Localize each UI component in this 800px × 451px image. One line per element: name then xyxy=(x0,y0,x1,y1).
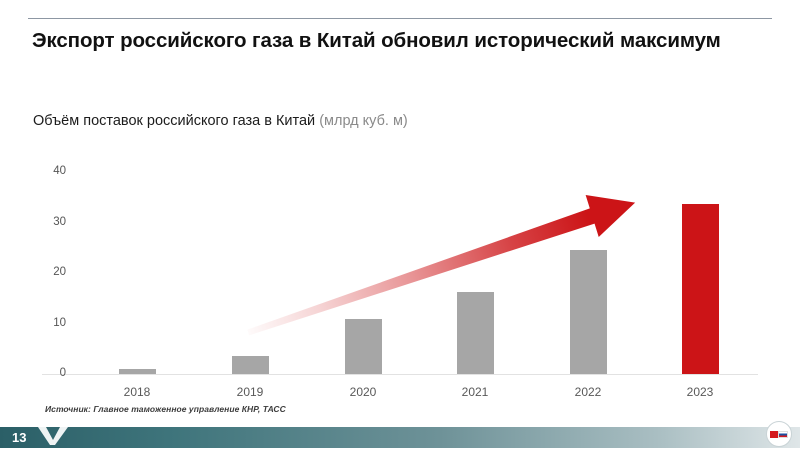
slide-root: Экспорт российского газа в Китай обновил… xyxy=(0,0,800,451)
russia-flag-icon xyxy=(778,431,788,438)
bar-chart: 010203040 201820192020202120222023 xyxy=(0,0,800,451)
page-number: 13 xyxy=(12,430,26,445)
y-axis-tick-label: 10 xyxy=(26,318,66,330)
bar-2022 xyxy=(570,250,607,374)
bar-2018 xyxy=(119,369,156,374)
y-axis-tick-label: 40 xyxy=(26,166,66,178)
x-axis-line xyxy=(42,374,758,375)
x-axis-tick-label: 2022 xyxy=(548,385,628,399)
x-axis-tick-label: 2021 xyxy=(435,385,515,399)
bar-2020 xyxy=(345,319,382,374)
china-russia-flags-logo xyxy=(766,421,792,447)
bar-2023 xyxy=(682,204,719,374)
y-axis-tick-label: 20 xyxy=(26,267,66,279)
x-axis-tick-label: 2018 xyxy=(97,385,177,399)
chevron-mark-icon xyxy=(36,427,70,445)
bar-2019 xyxy=(232,356,269,374)
x-axis-tick-label: 2020 xyxy=(323,385,403,399)
bar-2021 xyxy=(457,292,494,374)
x-axis-tick-label: 2019 xyxy=(210,385,290,399)
y-axis-tick-label: 30 xyxy=(26,217,66,229)
y-axis-tick-label: 0 xyxy=(26,368,66,380)
growth-trend-arrow xyxy=(0,0,800,451)
x-axis-tick-label: 2023 xyxy=(660,385,740,399)
source-note: Источник: Главное таможенное управление … xyxy=(45,404,286,414)
